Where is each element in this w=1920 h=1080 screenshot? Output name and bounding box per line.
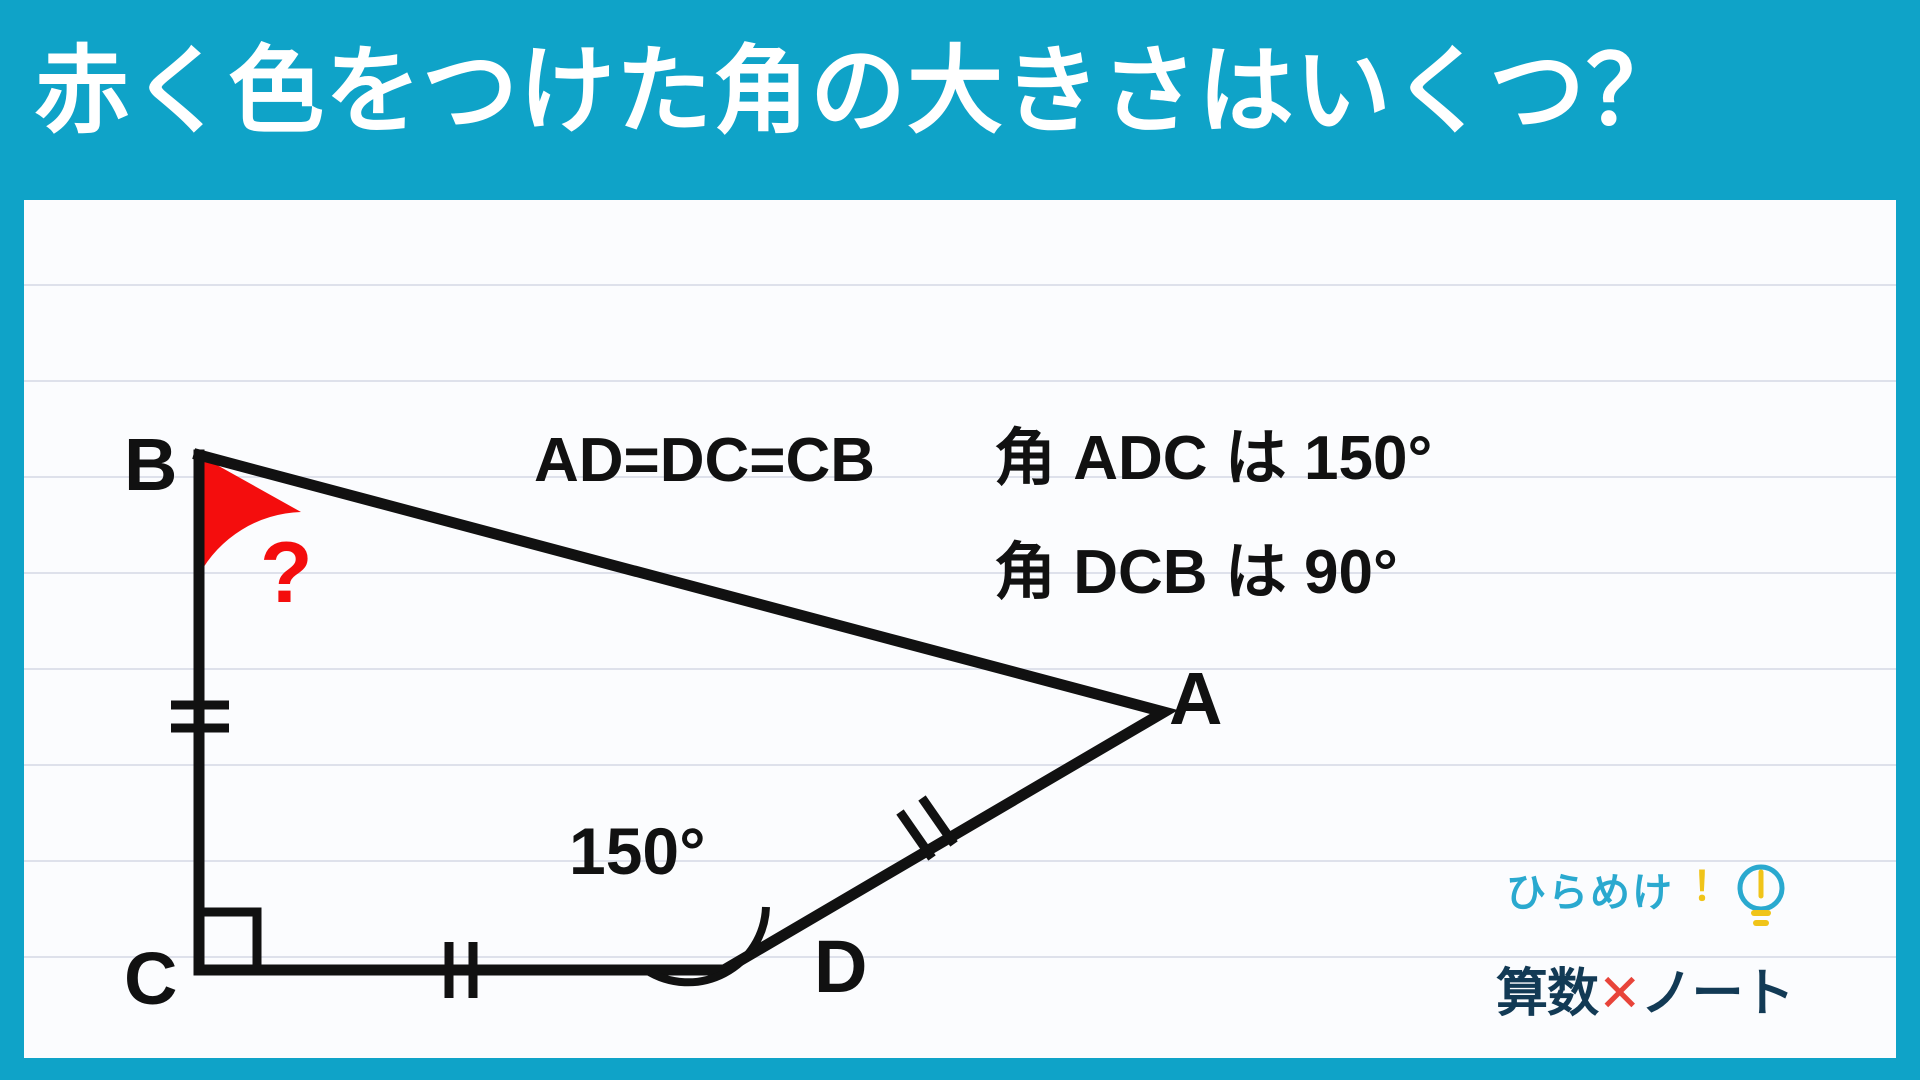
vertex-label-d: D — [814, 930, 867, 1004]
brand-logo: ひらめけ ！ 算数✕ノート — [1496, 860, 1856, 1040]
vertex-label-a: A — [1169, 662, 1222, 736]
tick-mark-da-2 — [922, 798, 954, 844]
logo-top-text: ひらめけ — [1506, 860, 1674, 918]
logo-main-text: 算数✕ノート — [1496, 951, 1794, 1026]
fact-equal-sides: AD=DC=CB — [534, 430, 875, 492]
fact-angle-dcb: 角 DCB は 90° — [994, 542, 1398, 604]
page-root: 赤く色をつけた角の大きさはいくつ？ — [0, 0, 1920, 1080]
logo-note: ノート — [1641, 964, 1794, 1024]
vertex-label-c: C — [124, 942, 177, 1016]
logo-cross-icon: ✕ — [1598, 964, 1641, 1024]
header-banner: 赤く色をつけた角の大きさはいくつ？ — [0, 0, 1920, 182]
unknown-angle-question-mark: ? — [260, 530, 313, 616]
fact-angle-adc: 角 ADC は 150° — [994, 428, 1432, 490]
logo-exclamation: ！ — [1692, 854, 1732, 912]
angle-label-150: 150° — [569, 818, 706, 884]
logo-sansu: 算数 — [1496, 964, 1598, 1024]
lightbulb-icon — [1732, 862, 1790, 934]
notebook-panel: B C D A ? 150° AD=DC=CB 角 ADC は 150° 角 D… — [24, 200, 1896, 1058]
figure-outline — [199, 455, 1164, 970]
right-angle-marker-at-C — [199, 912, 257, 970]
page-title: 赤く色をつけた角の大きさはいくつ？ — [0, 43, 1683, 139]
vertex-label-b: B — [124, 428, 177, 502]
